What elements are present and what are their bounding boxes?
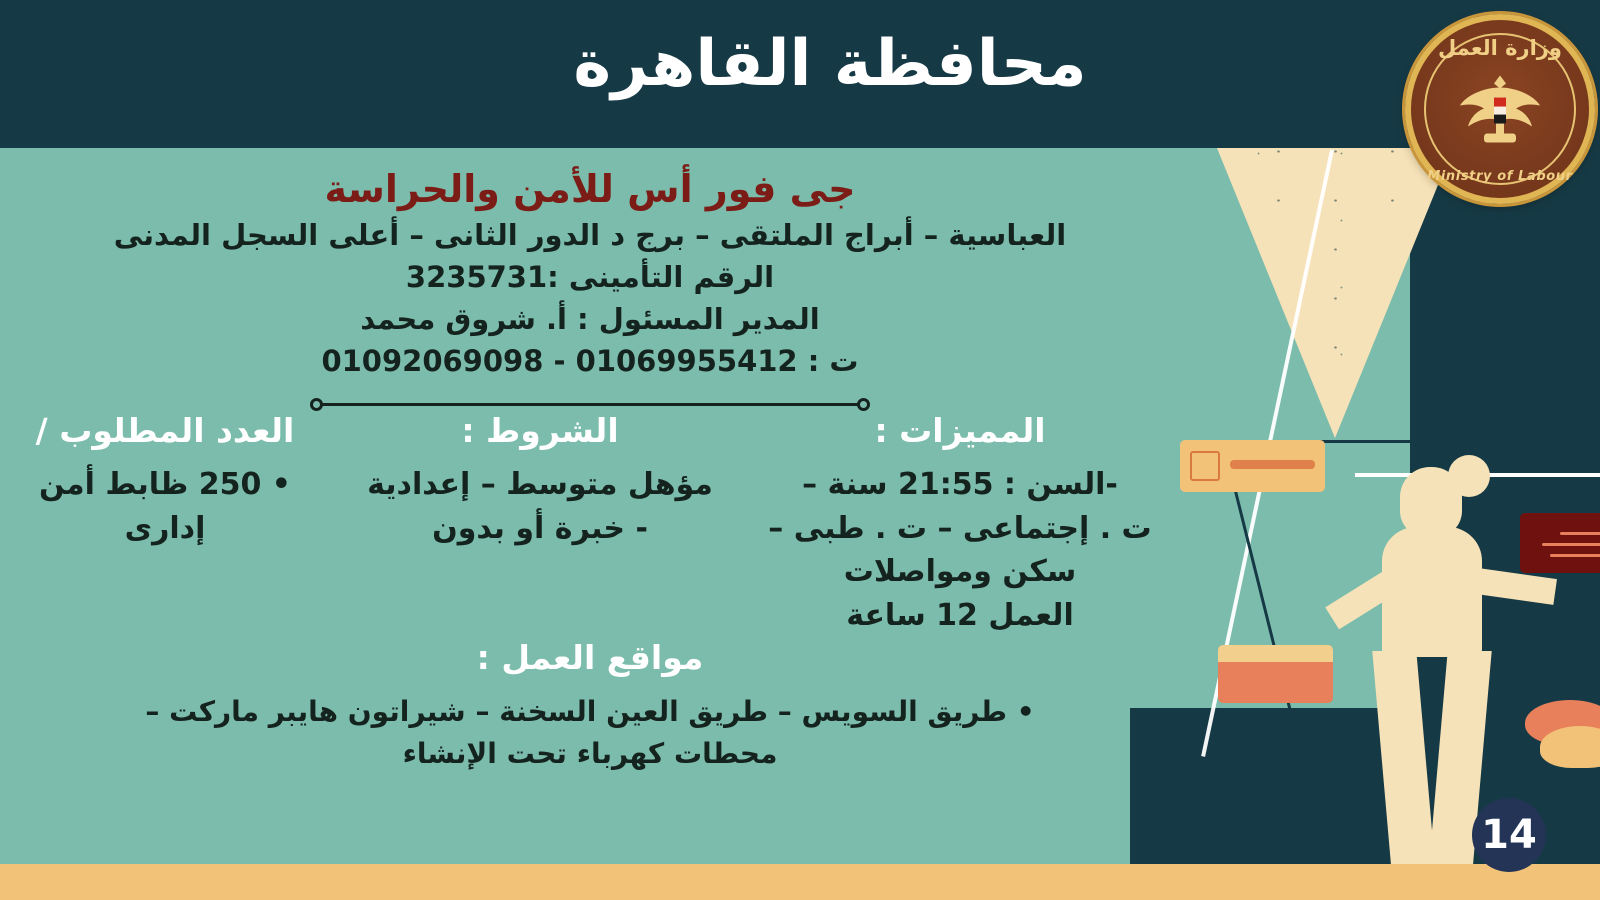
benefits-item: ت . إجتماعى – ت . طبى – (760, 507, 1160, 551)
bottom-gold-band (0, 864, 1600, 900)
work-locations-section: مواقع العمل : • طريق السويس – طريق العين… (0, 638, 1180, 775)
company-address: العباسية – أبراج الملتقى – برج د الدور ا… (0, 215, 1180, 257)
needed-body: • 250 ظابط أمن إدارى (10, 463, 320, 551)
eagle-emblem-icon (1454, 72, 1546, 150)
company-insurance-number: الرقم التأمينى :3235731 (0, 257, 1180, 299)
id-card-text-bar (1230, 460, 1315, 469)
slide-root: محافظة القاهرة وزارة العمل Ministry of L… (0, 0, 1600, 900)
benefits-item: -السن : 21:55 سنة – (760, 463, 1160, 507)
horizontal-accent-line (1232, 440, 1522, 443)
orange-card-graphic (1218, 645, 1333, 703)
conditions-item: - خبرة أو بدون (340, 507, 740, 551)
column-conditions: الشروط : مؤهل متوسط – إعدادية - خبرة أو … (330, 410, 750, 550)
white-accent-line (1355, 473, 1600, 477)
column-benefits: المميزات : -السن : 21:55 سنة – ت . إجتما… (750, 410, 1170, 638)
white-diagonal-line (1201, 150, 1334, 757)
company-manager: المدير المسئول : أ. شروق محمد (0, 299, 1180, 341)
conditions-heading: الشروط : (340, 410, 740, 453)
needed-heading: العدد المطلوب / (10, 410, 320, 453)
benefits-body: -السن : 21:55 سنة – ت . إجتماعى – ت . طب… (760, 463, 1160, 638)
column-needed-count: العدد المطلوب / • 250 ظابط أمن إدارى (0, 410, 330, 550)
id-card-photo-box (1190, 451, 1220, 481)
figure-left-arm (1325, 565, 1407, 629)
conditions-body: مؤهل متوسط – إعدادية - خبرة أو بدون (340, 463, 740, 551)
figure-right-arm (1468, 567, 1557, 605)
divider-bar (320, 403, 860, 406)
company-phones: ت : 01069955412 - 01092069098 (0, 341, 1180, 383)
red-card-line (1560, 532, 1600, 535)
company-info-block: جى فور أس للأمن والحراسة العباسية – أبرا… (0, 148, 1180, 382)
salmon-blob-shape (1525, 700, 1600, 746)
figure-left-leg (1372, 651, 1435, 873)
red-card-line (1542, 543, 1600, 546)
locations-item: • طريق السويس – طريق العين السخنة – شيرا… (0, 691, 1180, 775)
benefits-item: سكن ومواصلات (760, 550, 1160, 594)
header-band: محافظة القاهرة (0, 0, 1600, 148)
figure-hair-bun (1448, 455, 1490, 497)
figure-torso (1382, 527, 1482, 657)
seal-english-label: Ministry of Labour (1411, 169, 1589, 184)
figure-head (1400, 467, 1462, 537)
tan-blob-shape (1540, 726, 1600, 768)
slide-content: جى فور أس للأمن والحراسة العباسية – أبرا… (0, 148, 1180, 900)
seal-arabic-label: وزارة العمل (1411, 36, 1589, 60)
needed-item: • 250 ظابط أمن إدارى (10, 463, 320, 551)
page-title: محافظة القاهرة (510, 24, 1150, 104)
red-card-line (1550, 554, 1600, 557)
id-card-graphic (1180, 440, 1325, 492)
orange-card-top-band (1218, 645, 1333, 662)
benefits-heading: المميزات : (760, 410, 1160, 453)
red-card-graphic (1520, 513, 1600, 573)
dark-diagonal-line (1225, 455, 1300, 747)
locations-heading: مواقع العمل : (0, 638, 1180, 677)
info-columns: العدد المطلوب / • 250 ظابط أمن إدارى الش… (0, 410, 1180, 638)
ministry-of-labour-seal-icon: وزارة العمل Ministry of Labour (1405, 14, 1595, 204)
benefits-item: العمل 12 ساعة (760, 594, 1160, 638)
conditions-item: مؤهل متوسط – إعدادية (340, 463, 740, 507)
page-number-badge: 14 (1472, 798, 1546, 872)
company-name: جى فور أس للأمن والحراسة (0, 164, 1180, 215)
